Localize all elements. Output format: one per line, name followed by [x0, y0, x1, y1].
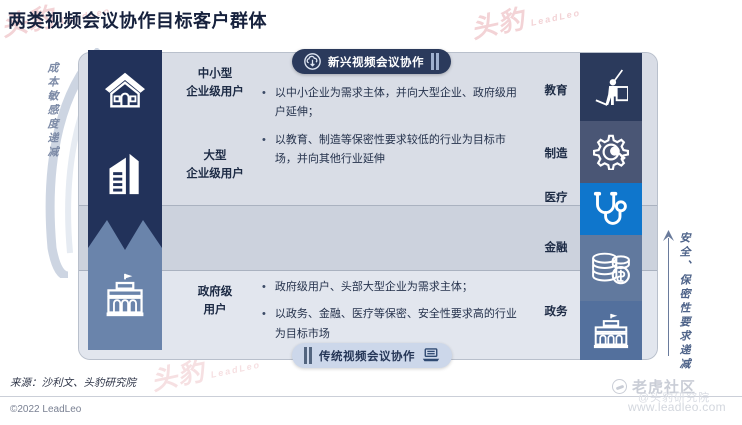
industry-tile-manufacturing[interactable] — [580, 121, 642, 183]
banner-traditional-label: 传统视频会议协作 — [319, 348, 415, 364]
industry-tile-education[interactable] — [580, 53, 642, 121]
bullet-marker: • — [262, 131, 266, 170]
house-icon — [88, 70, 162, 115]
cloud-upload-icon — [304, 53, 321, 70]
office-building-icon — [88, 152, 162, 201]
list-item: • 政府级用户、头部大型企业为需求主体； — [262, 278, 525, 297]
user-type-government: 政府级 用户 — [172, 284, 258, 320]
banner-bars — [304, 347, 312, 364]
industry-tile-government[interactable] — [580, 301, 642, 360]
user-type-sme: 中小型 企业级用户 — [172, 66, 258, 102]
laptop-icon — [422, 348, 440, 363]
tiger-logo-icon — [612, 379, 627, 394]
banner-bars — [431, 53, 439, 70]
list-item: • 以政务、金融、医疗等保密、安全性要求高的行业为目标市场 — [262, 305, 525, 344]
watermark-site: www.leadleo.com — [628, 400, 726, 414]
page-title: 两类视频会议协作目标客户群体 — [8, 7, 267, 33]
industry-label-education: 教育 — [528, 82, 584, 98]
source-note: 来源：沙利文、头豹研究院 — [10, 375, 136, 390]
list-item-text: 以教育、制造等保密性要求较低的行业为目标市场，并向其他行业延伸 — [275, 131, 525, 170]
stethoscope-icon — [592, 191, 630, 227]
banner-emerging-label: 新兴视频会议协作 — [328, 54, 424, 70]
banner-traditional[interactable]: 传统视频会议协作 — [292, 343, 452, 368]
industry-tile-healthcare[interactable] — [580, 183, 642, 235]
industry-tile-finance[interactable] — [580, 235, 642, 301]
list-item: • 以教育、制造等保密性要求较低的行业为目标市场，并向其他行业延伸 — [262, 131, 525, 170]
bullet-marker: • — [262, 278, 266, 297]
list-item-text: 政府级用户、头部大型企业为需求主体； — [275, 278, 473, 297]
industry-label-government: 政务 — [528, 303, 584, 319]
traditional-bullet-list: • 政府级用户、头部大型企业为需求主体； • 以政务、金融、医疗等保密、安全性要… — [262, 278, 525, 352]
left-axis-label: 成本敏感度递减 — [44, 62, 60, 160]
right-axis-line — [668, 238, 669, 356]
industry-label-manufacturing: 制造 — [528, 145, 584, 161]
bullet-marker: • — [262, 305, 266, 344]
card-row-middle — [79, 205, 657, 271]
government-building-icon — [88, 272, 162, 323]
list-item-text: 以政务、金融、医疗等保密、安全性要求高的行业为目标市场 — [275, 305, 525, 344]
industry-label-finance: 金融 — [528, 239, 584, 255]
list-item: • 以中小企业为需求主体，并向大型企业、政府级用户延伸； — [262, 84, 525, 123]
user-type-large-enterprise: 大型 企业级用户 — [172, 148, 258, 184]
up-arrow-icon — [662, 230, 675, 242]
coins-icon — [591, 251, 631, 285]
industry-label-healthcare: 医疗 — [528, 189, 584, 205]
banner-emerging[interactable]: 新兴视频会议协作 — [292, 49, 451, 74]
watermark-brand-topright: 头豹 LeadLeo — [467, 0, 583, 46]
gear-wrench-icon — [593, 134, 629, 170]
capitol-icon — [591, 313, 631, 349]
bullet-marker: • — [262, 84, 266, 123]
copyright-note: ©2022 LeadLeo — [10, 404, 81, 415]
emerging-bullet-list: • 以中小企业为需求主体，并向大型企业、政府级用户延伸； • 以教育、制造等保密… — [262, 84, 525, 177]
right-axis-label: 安全、保密性要求递减 — [676, 232, 692, 372]
list-item-text: 以中小企业为需求主体，并向大型企业、政府级用户延伸； — [275, 84, 525, 123]
teacher-icon — [594, 68, 628, 106]
